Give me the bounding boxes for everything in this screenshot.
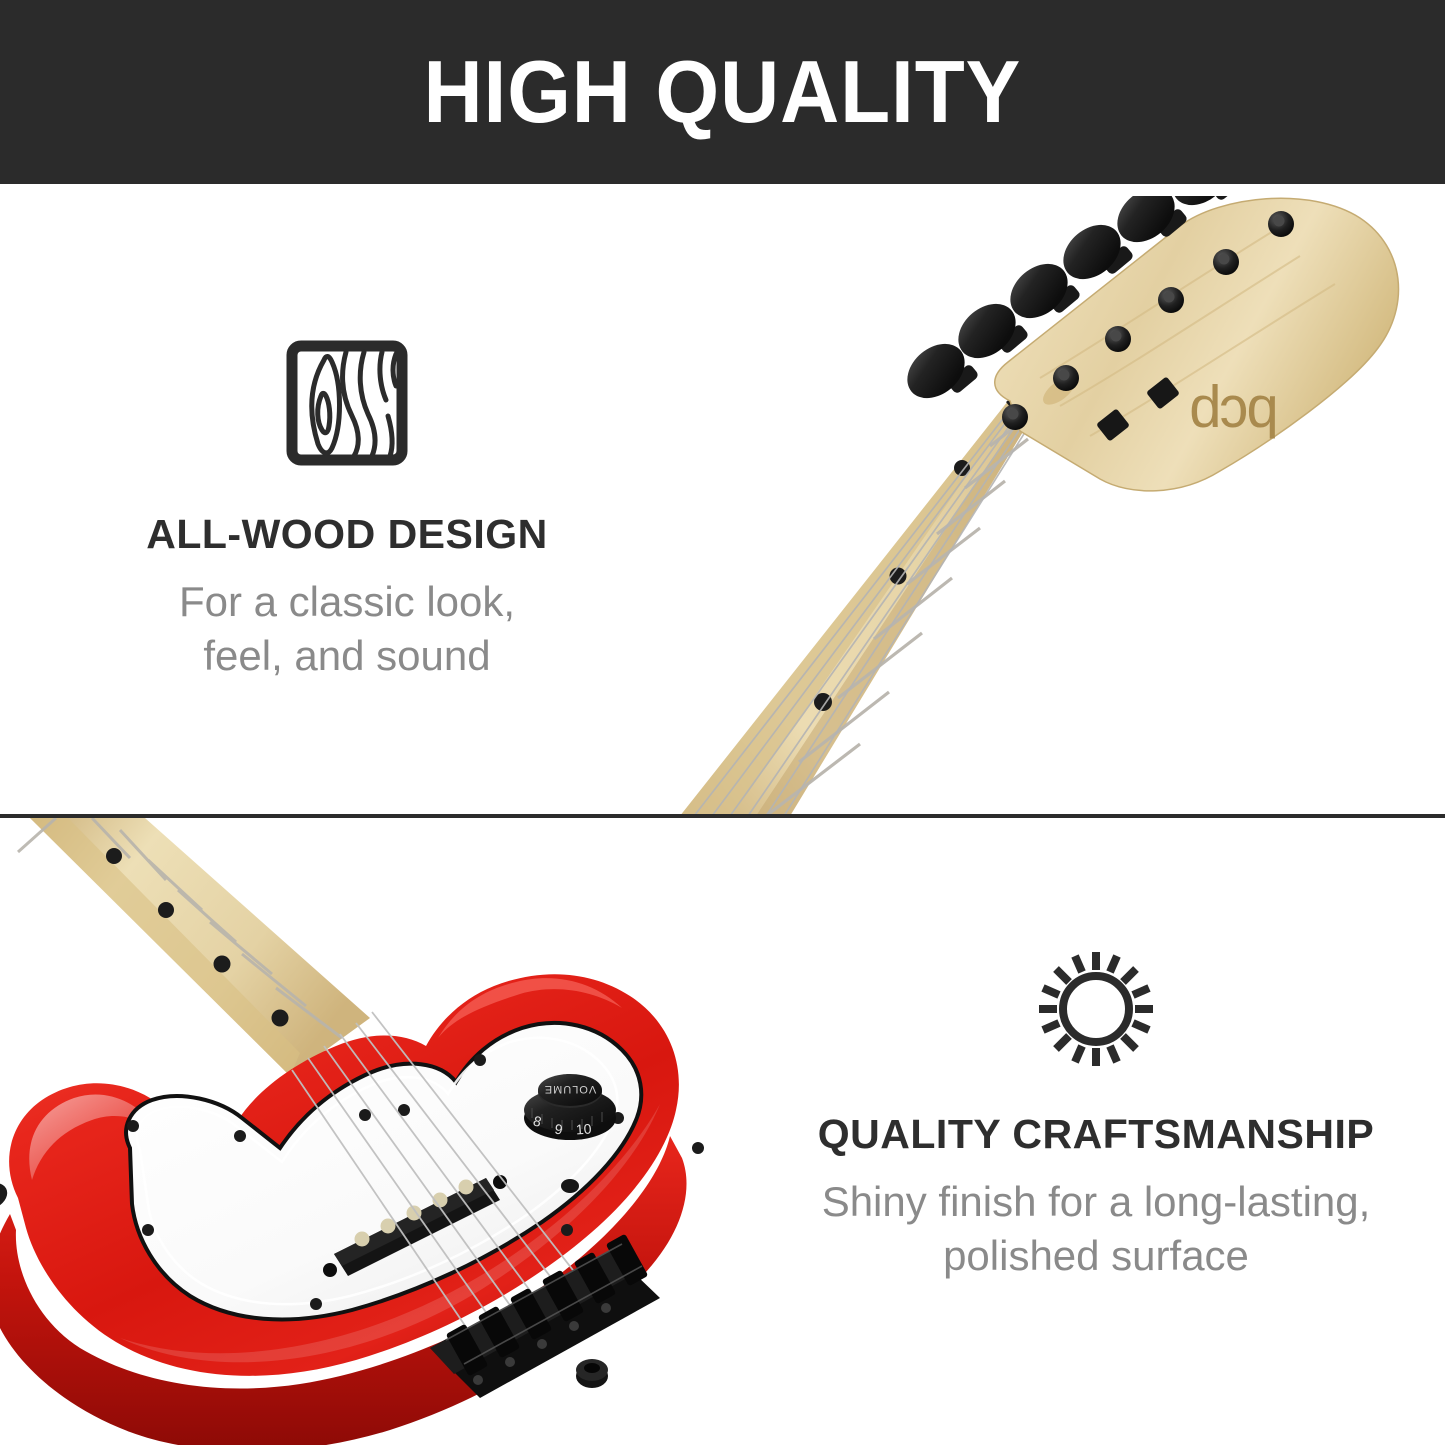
- feature-all-wood-design: ALL-WOOD DESIGN For a classic look, feel…: [47, 338, 647, 683]
- header-banner: HIGH QUALITY: [0, 0, 1445, 184]
- body-screw: [561, 1179, 579, 1193]
- knob-number-10: 10: [575, 1120, 592, 1137]
- feature-title: ALL-WOOD DESIGN: [47, 512, 647, 557]
- brand-logo: bcp: [1191, 383, 1279, 448]
- feature-subtitle: For a classic look, feel, and sound: [47, 575, 647, 683]
- panel-divider: [0, 814, 1445, 818]
- knob-label: VOLUME: [544, 1083, 596, 1095]
- wood-grain-icon: [47, 338, 647, 468]
- guitar-body-image: VOLUME 8 9 10: [0, 818, 770, 1445]
- guitar-neck-bottom: [18, 818, 370, 1076]
- feature-subtitle: Shiny finish for a long-lasting, polishe…: [786, 1175, 1406, 1283]
- feature-subtitle-line-1: Shiny finish for a long-lasting,: [786, 1175, 1406, 1229]
- sun-shine-icon: [786, 950, 1406, 1068]
- feature-subtitle-line-1: For a classic look,: [47, 575, 647, 629]
- output-jack: [576, 1359, 608, 1388]
- svg-text:bcp: bcp: [1191, 383, 1279, 448]
- product-infographic: HIGH QUALITY: [0, 0, 1445, 1445]
- feature-quality-craftsmanship: QUALITY CRAFTSMANSHIP Shiny finish for a…: [786, 950, 1406, 1283]
- page-title: HIGH QUALITY: [424, 48, 1022, 136]
- guitar-headstock-image: bcp: [660, 196, 1445, 816]
- feature-title: QUALITY CRAFTSMANSHIP: [786, 1112, 1406, 1157]
- feature-subtitle-line-2: feel, and sound: [47, 629, 647, 683]
- strap-button: [0, 1178, 12, 1214]
- feature-subtitle-line-2: polished surface: [786, 1229, 1406, 1283]
